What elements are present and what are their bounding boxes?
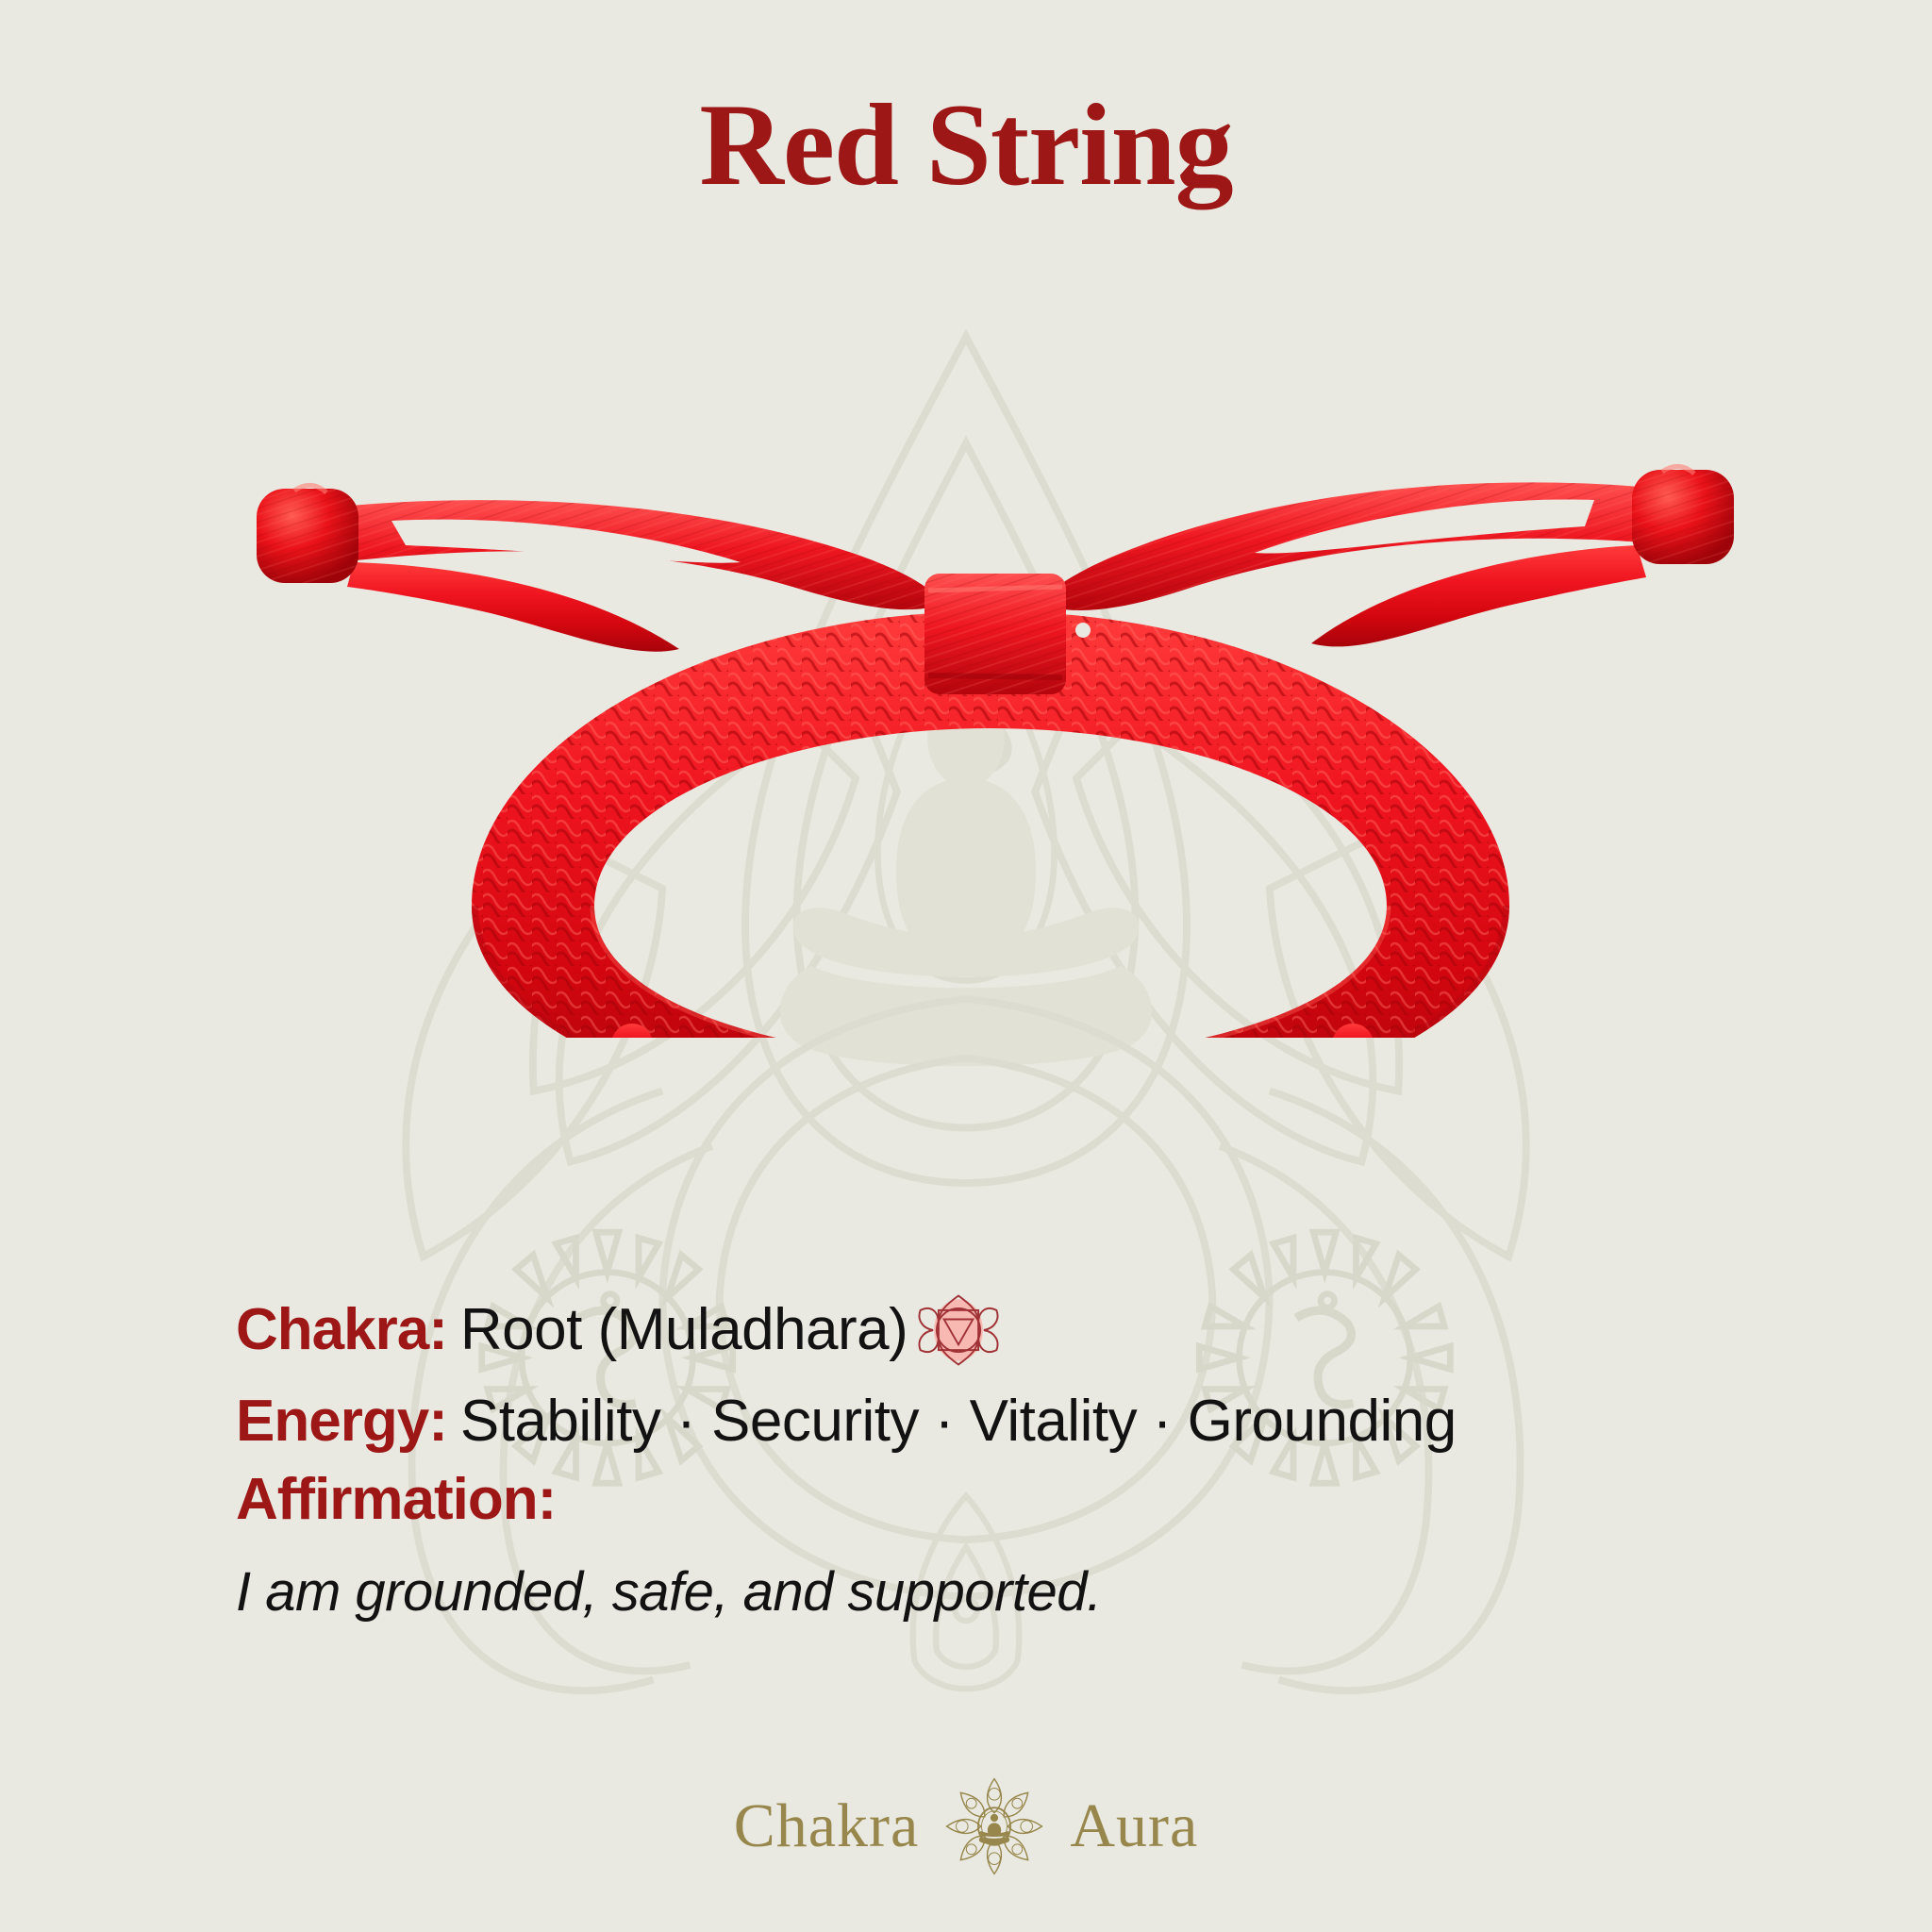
chakra-value: Root (Muladhara): [460, 1299, 908, 1360]
bracelet-right-adjust-cord: [1038, 482, 1660, 646]
energy-label: Energy:: [236, 1391, 447, 1452]
product-info-block: Chakra: Root (Muladhara) Energy: Stabili…: [236, 1285, 1745, 1623]
product-image-red-string-bracelet: [189, 377, 1792, 1038]
lotus-meditation-mandala-logo: [943, 1775, 1045, 1877]
energy-row: Energy: Stability · Security · Vitality …: [236, 1391, 1745, 1452]
brand-word-aura: Aura: [1070, 1795, 1198, 1857]
affirmation-label: Affirmation:: [236, 1469, 1745, 1530]
page-title: Red String: [0, 87, 1932, 204]
brand-footer: Chakra: [0, 1775, 1932, 1877]
bracelet-right-end-bead: [1632, 466, 1734, 564]
brand-word-chakra: Chakra: [734, 1795, 920, 1857]
affirmation-text: I am grounded, safe, and supported.: [236, 1562, 1745, 1623]
chakra-label: Chakra:: [236, 1299, 447, 1360]
muladhara-chakra-icon: [913, 1285, 1004, 1375]
chakra-row: Chakra: Root (Muladhara): [236, 1285, 1745, 1375]
bracelet-sliding-knot: [924, 574, 1091, 694]
bracelet-left-end-bead: [257, 485, 358, 583]
energy-value: Stability · Security · Vitality · Ground…: [460, 1391, 1457, 1452]
